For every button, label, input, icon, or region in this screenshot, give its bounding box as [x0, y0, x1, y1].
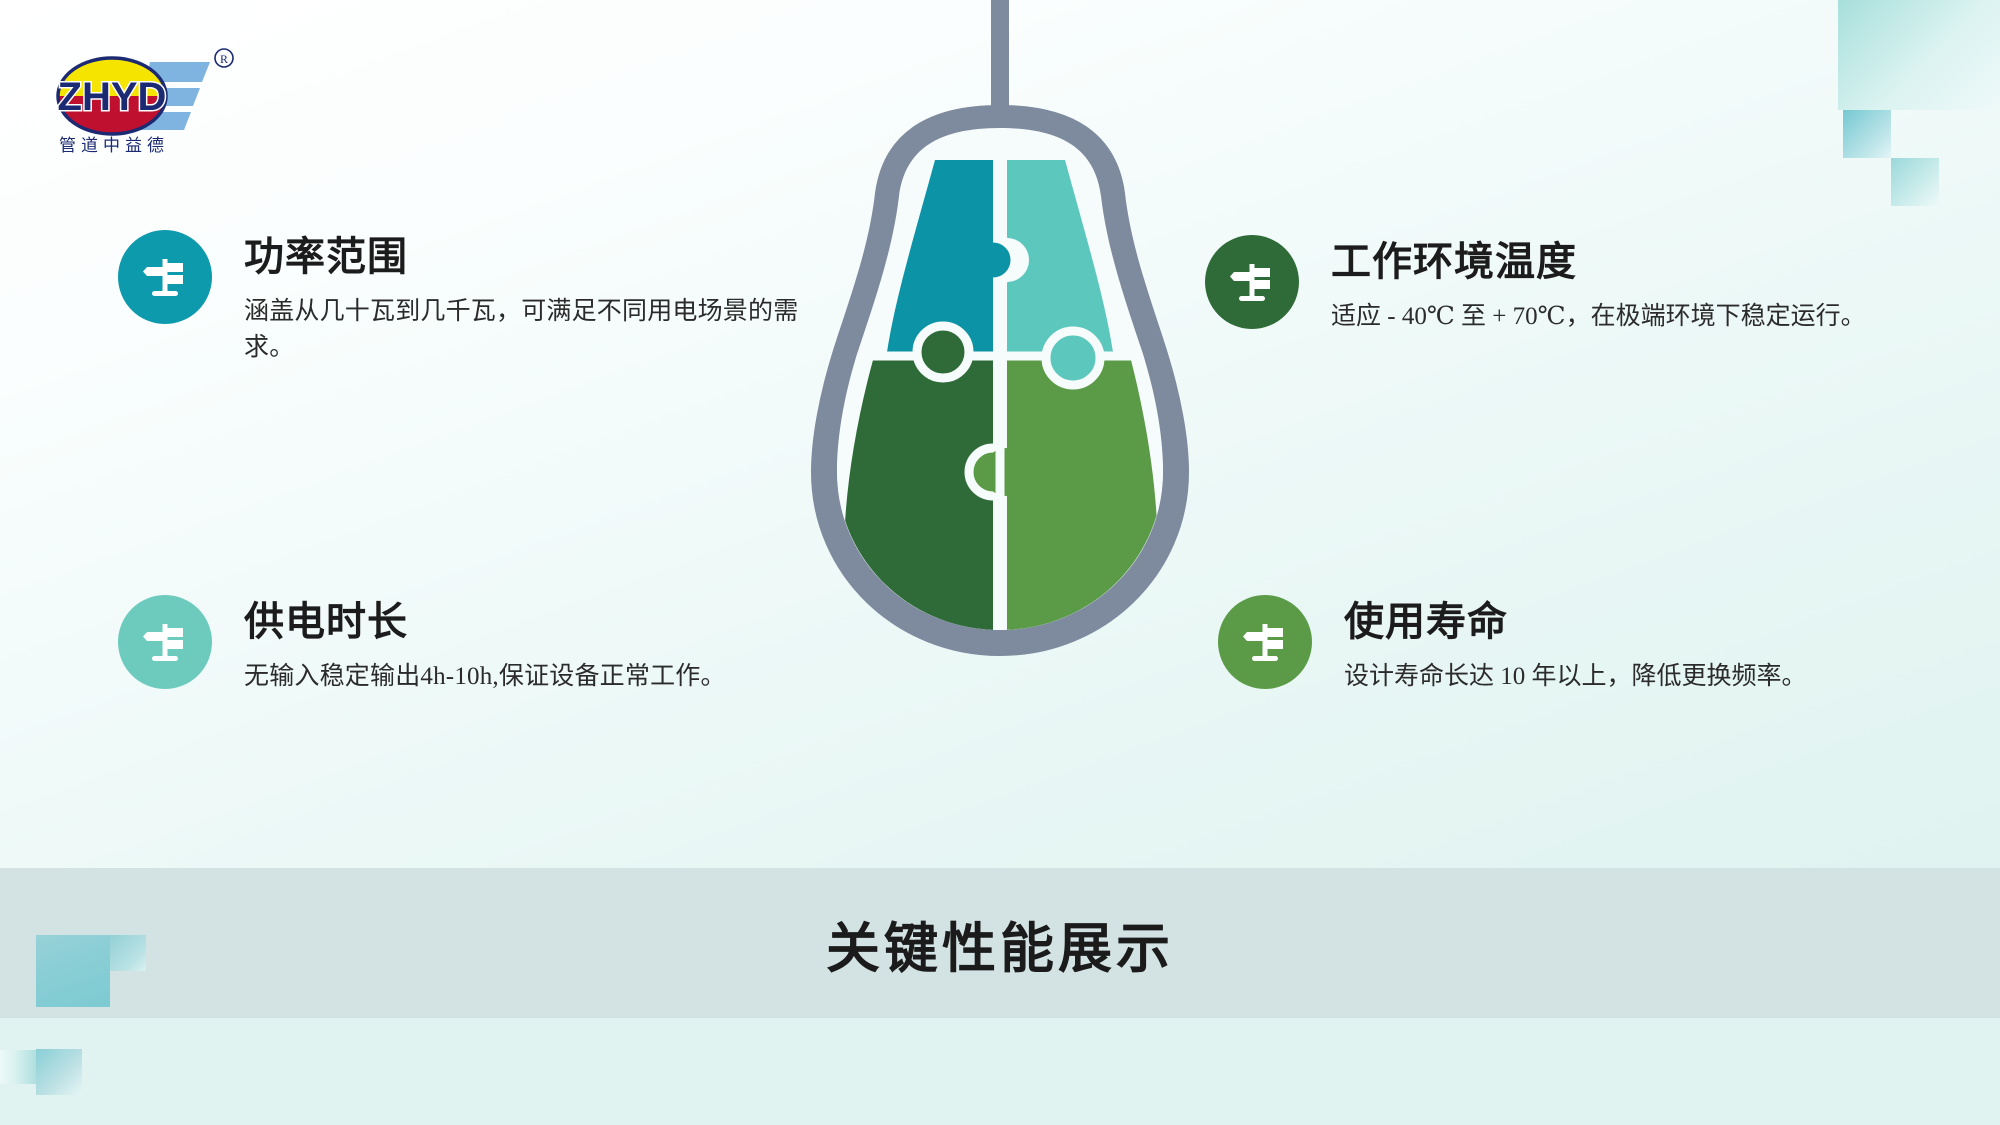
logo-chinese-name: 管道中益德 [59, 136, 169, 155]
decor-square-top-right-small [1891, 158, 1939, 206]
signpost-icon [1239, 616, 1291, 668]
feature-power-duration: 供电时长 无输入稳定输出4h-10h,保证设备正常工作。 [118, 595, 844, 695]
feature-power-range-title: 功率范围 [244, 234, 804, 280]
feature-power-range-description: 涵盖从几十瓦到几千瓦，可满足不同用电场景的需求。 [244, 294, 804, 367]
svg-text:R: R [220, 52, 228, 66]
feature-power-range-badge [118, 230, 212, 324]
slide-canvas: ZHYD R 管道中益德 [0, 0, 2000, 1125]
decor-square-top-right-mid [1843, 110, 1891, 158]
registered-trademark-icon: R [215, 49, 233, 67]
feature-power-duration-title: 供电时长 [244, 599, 844, 645]
feature-service-life-badge [1218, 595, 1312, 689]
logo-wordmark: ZHYD [58, 75, 167, 119]
banner-title: 关键性能展示 [0, 868, 2000, 1018]
feature-service-life: 使用寿命 设计寿命长达 10 年以上，降低更换频率。 [1218, 595, 1944, 695]
feature-power-duration-badge [118, 595, 212, 689]
signpost-icon [139, 251, 191, 303]
feature-service-life-description: 设计寿命长达 10 年以上，降低更换频率。 [1344, 659, 1944, 695]
signpost-icon [1226, 256, 1278, 308]
signpost-icon [139, 616, 191, 668]
feature-power-range: 功率范围 涵盖从几十瓦到几千瓦，可满足不同用电场景的需求。 [118, 230, 804, 367]
lightbulb-puzzle-graphic [795, 0, 1205, 830]
feature-service-life-title: 使用寿命 [1344, 599, 1944, 645]
feature-operating-temperature: 工作环境温度 适应 - 40℃ 至 + 70℃，在极端环境下稳定运行。 [1205, 235, 1951, 335]
feature-power-duration-description: 无输入稳定输出4h-10h,保证设备正常工作。 [244, 659, 844, 695]
company-logo: ZHYD R 管道中益德 [42, 38, 252, 158]
decor-square-top-right-large [1838, 0, 2000, 110]
banner-bottom-fill [0, 1018, 2000, 1125]
feature-operating-temperature-badge [1205, 235, 1299, 329]
feature-operating-temperature-title: 工作环境温度 [1331, 239, 1951, 285]
feature-operating-temperature-description: 适应 - 40℃ 至 + 70℃，在极端环境下稳定运行。 [1331, 299, 1951, 335]
